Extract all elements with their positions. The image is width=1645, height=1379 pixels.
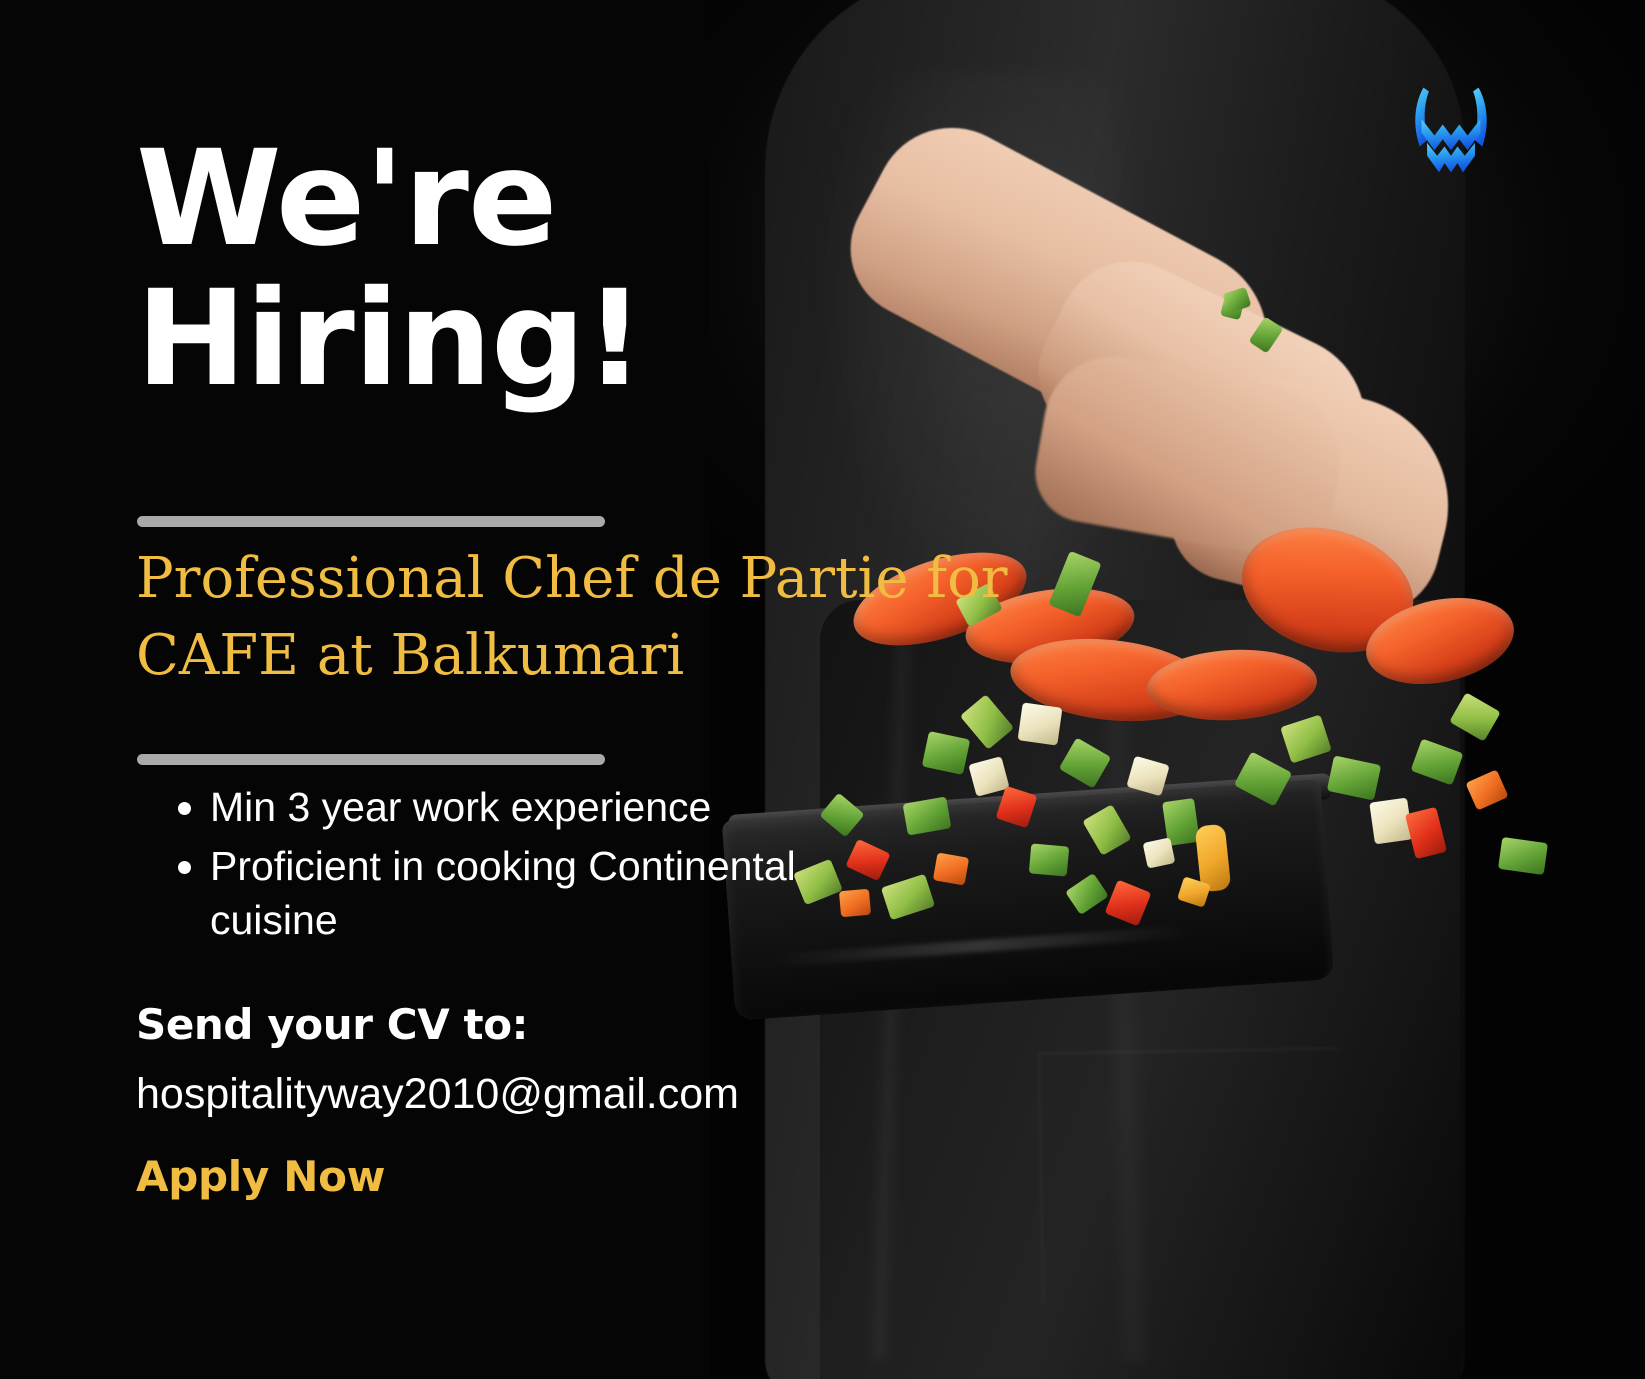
- job-title: Professional Chef de Partie for CAFE at …: [136, 540, 1016, 695]
- divider-top: [137, 516, 605, 527]
- vegetable-piece: [1498, 837, 1548, 875]
- apron-pocket: [1038, 1047, 1342, 1302]
- page-title: We're Hiring!: [136, 130, 896, 410]
- vegetable-piece: [1465, 769, 1508, 810]
- w-monogram-logo: [1405, 82, 1497, 178]
- divider-bottom: [137, 754, 605, 765]
- vegetable-piece: [1029, 843, 1069, 876]
- contact-email[interactable]: hospitalityway2010@gmail.com: [136, 1070, 739, 1119]
- apply-now-cta[interactable]: Apply Now: [136, 1152, 385, 1201]
- job-poster: We're Hiring! Professional Chef de Parti…: [0, 0, 1645, 1379]
- poster-text-column: We're Hiring! Professional Chef de Parti…: [0, 0, 960, 1379]
- list-item: Proficient in cooking Continental cuisin…: [170, 839, 930, 948]
- list-item: Min 3 year work experience: [170, 780, 930, 835]
- vegetable-piece: [1018, 702, 1063, 745]
- requirements-list: Min 3 year work experience Proficient in…: [170, 780, 930, 952]
- cv-instruction-label: Send your CV to:: [136, 1000, 528, 1049]
